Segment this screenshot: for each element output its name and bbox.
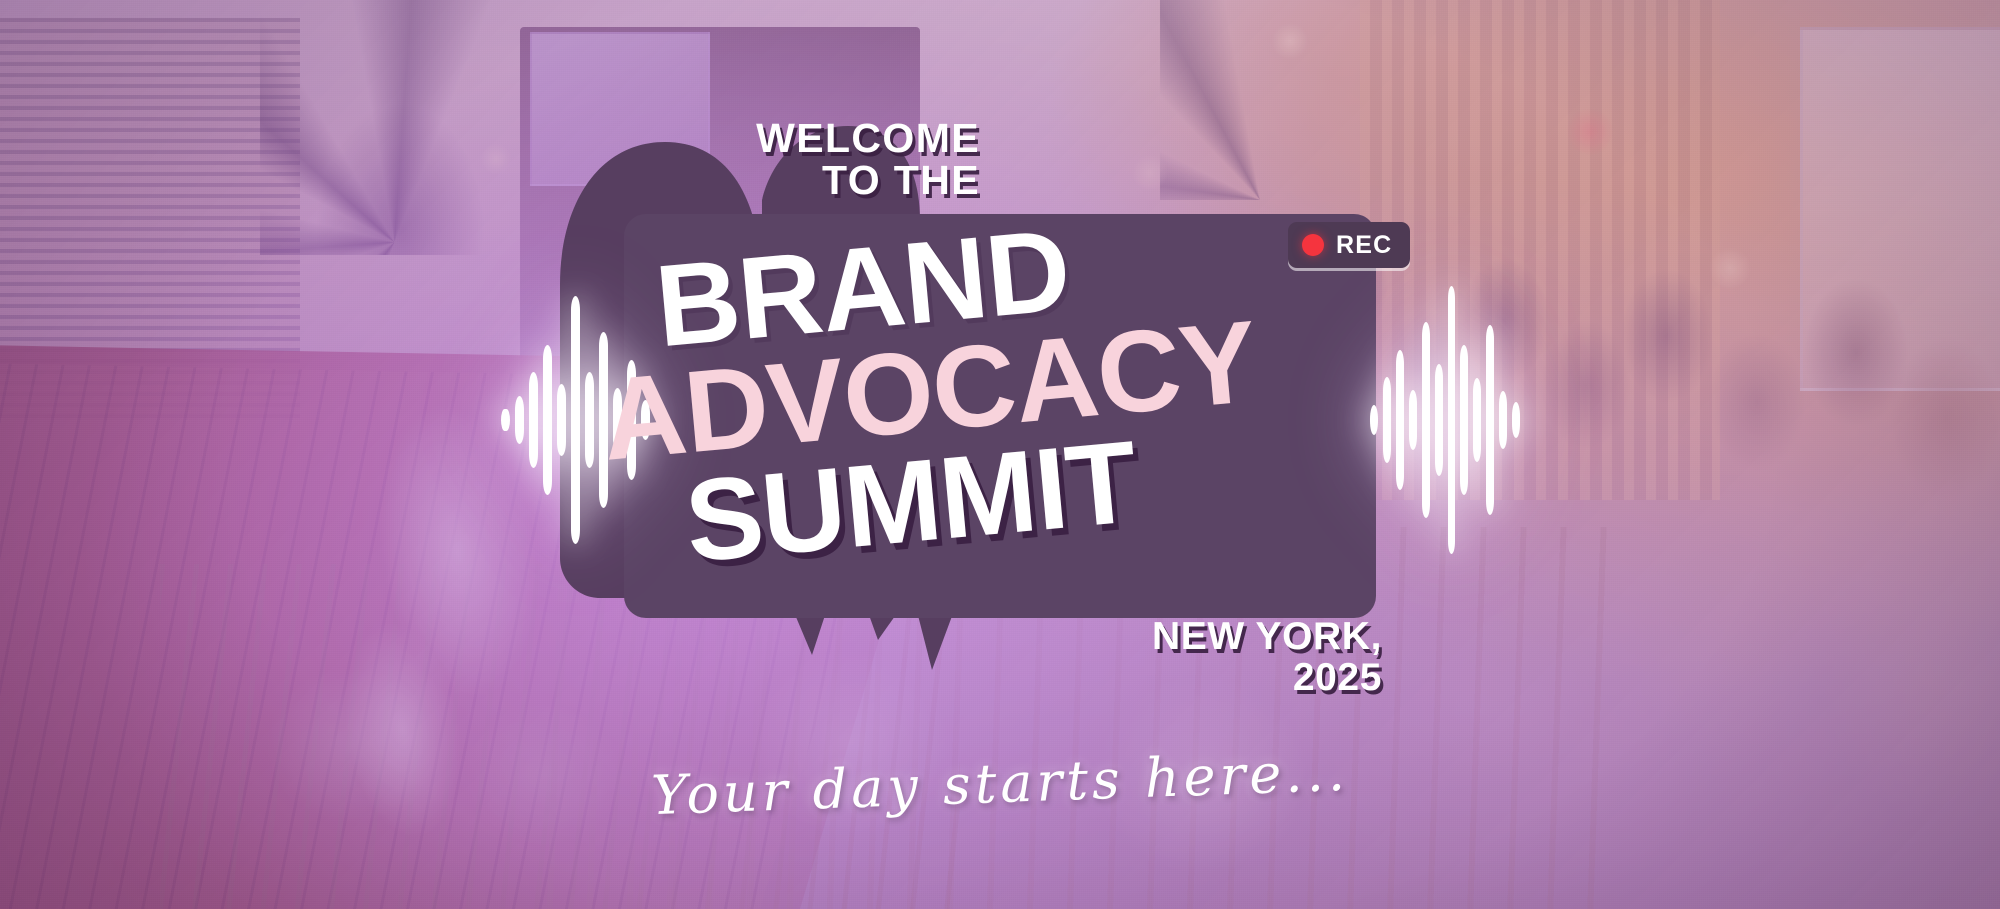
- rec-label: REC: [1336, 231, 1392, 260]
- event-location: NEW YORK, 2025: [900, 616, 1382, 699]
- location-year: 2025: [900, 657, 1382, 698]
- eyebrow-text: WELCOME TO THE: [560, 118, 980, 202]
- location-city: NEW YORK,: [1152, 615, 1382, 658]
- record-dot-icon: [1302, 234, 1324, 256]
- eyebrow-line-2: TO THE: [560, 160, 980, 202]
- slide-canvas: WELCOME TO THE BRAND ADVOCACY SUMMIT NEW…: [0, 0, 2000, 909]
- status-badge-recording: REC: [1288, 222, 1410, 268]
- eyebrow-line-1: WELCOME: [756, 115, 980, 161]
